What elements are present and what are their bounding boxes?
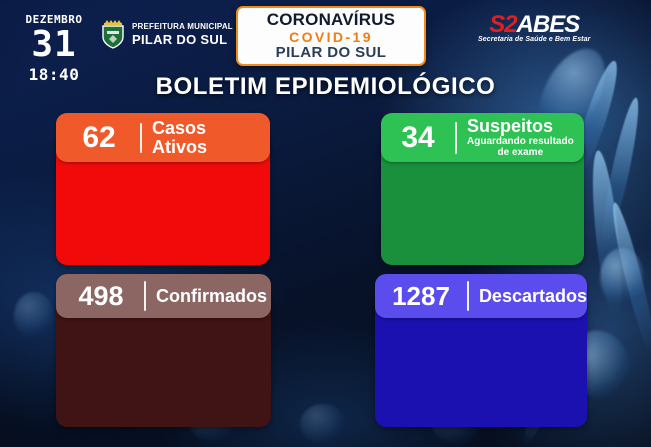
card-suspected-cases: 34 Suspeitos Aguardando resultado de exa… xyxy=(381,113,584,162)
card-active-cases: 62 Casos Ativos ISOLAMENTO DOMICILIAR 54… xyxy=(56,113,270,162)
prefeitura-text: PREFEITURA MUNICIPAL PILAR DO SUL xyxy=(132,23,233,46)
banner-covid19: COVID-19 xyxy=(289,29,373,45)
suspected-cases-subtitle-2: de exame xyxy=(467,147,574,158)
discarded-cases-title: Descartados xyxy=(479,287,587,306)
abes-s2-mark: S2 xyxy=(489,11,516,38)
active-cases-title-1: Casos xyxy=(152,119,207,138)
card-header-confirmed-cases: 498 Confirmados xyxy=(56,274,271,318)
confirmed-cases-title: Confirmados xyxy=(156,287,267,306)
confirmed-cases-label: Confirmados xyxy=(156,287,267,306)
divider xyxy=(144,281,146,311)
confirmed-cases-count: 498 xyxy=(68,283,134,310)
card-header-active-cases: 62 Casos Ativos xyxy=(56,113,270,162)
card-header-suspected-cases: 34 Suspeitos Aguardando resultado de exa… xyxy=(381,113,584,162)
abes-wordmark: S2ABES xyxy=(478,13,590,37)
prefeitura-logo: PREFEITURA MUNICIPAL PILAR DO SUL xyxy=(100,19,233,49)
date-day: 31 xyxy=(16,27,92,63)
divider xyxy=(140,123,142,153)
banner-coronavirus: CORONAVÍRUS xyxy=(267,11,395,29)
active-cases-title-2: Ativos xyxy=(152,138,207,157)
active-cases-label: Casos Ativos xyxy=(152,119,207,157)
suspected-cases-title: Suspeitos xyxy=(467,117,574,136)
prefeitura-line2: PILAR DO SUL xyxy=(132,33,233,46)
coat-of-arms-icon xyxy=(100,19,126,49)
card-confirmed-cases: 498 Confirmados RECUPERADOS 421 ISOLAMEN… xyxy=(56,274,271,318)
boletim-epidemiologico-poster: DEZEMBRO 31 18:40 PREFEITURA MUNICIPAL P… xyxy=(0,0,651,447)
abes-subtitle: Secretaria de Saúde e Bem Estar xyxy=(478,36,590,43)
suspected-cases-label: Suspeitos Aguardando resultado de exame xyxy=(467,117,574,158)
discarded-cases-count: 1287 xyxy=(385,283,457,309)
page-title: BOLETIM EPIDEMIOLÓGICO xyxy=(0,73,651,101)
divider xyxy=(455,122,457,154)
abes-logo: S2ABES Secretaria de Saúde e Bem Estar xyxy=(478,13,590,43)
suspected-cases-subtitle-1: Aguardando resultado xyxy=(467,136,574,147)
coronavirus-banner: CORONAVÍRUS COVID-19 PILAR DO SUL xyxy=(236,6,426,66)
suspected-cases-count: 34 xyxy=(391,123,445,153)
discarded-cases-label: Descartados xyxy=(479,287,587,306)
banner-city: PILAR DO SUL xyxy=(276,45,387,61)
divider xyxy=(467,281,469,311)
card-header-discarded-cases: 1287 Descartados xyxy=(375,274,587,318)
abes-name: ABES xyxy=(517,11,580,38)
prefeitura-line1: PREFEITURA MUNICIPAL xyxy=(132,23,233,31)
active-cases-count: 62 xyxy=(68,123,130,153)
card-discarded-cases: 1287 Descartados RESULTADOS NEGATIVOS 12… xyxy=(375,274,587,318)
